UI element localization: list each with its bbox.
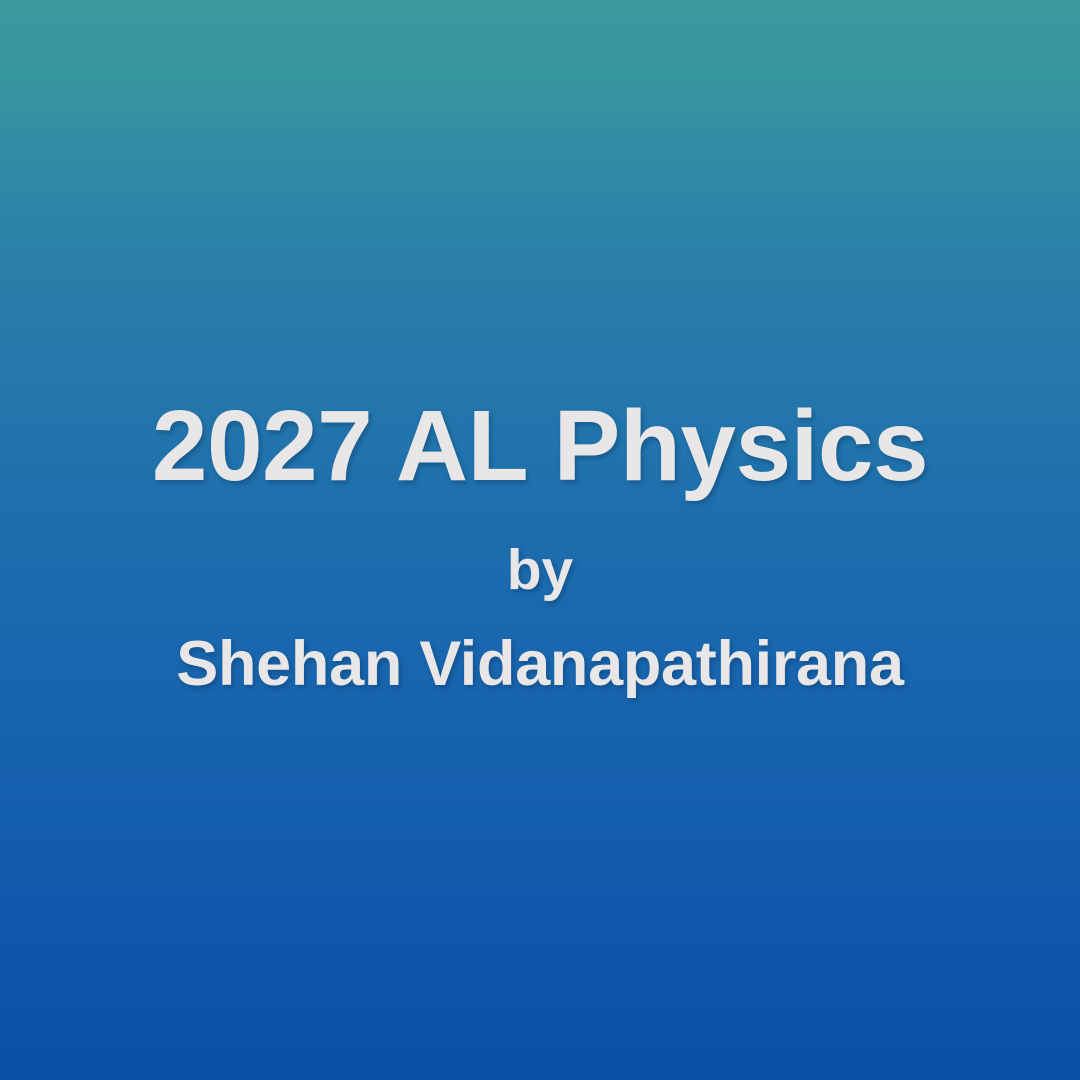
title-card: 2027 AL Physics by Shehan Vidanapathiran…: [0, 0, 1080, 1080]
page-title: 2027 AL Physics: [152, 396, 928, 496]
author-name: Shehan Vidanapathirana: [176, 633, 903, 696]
byline-label: by: [507, 542, 574, 599]
title-block: 2027 AL Physics by Shehan Vidanapathiran…: [0, 0, 1080, 1080]
